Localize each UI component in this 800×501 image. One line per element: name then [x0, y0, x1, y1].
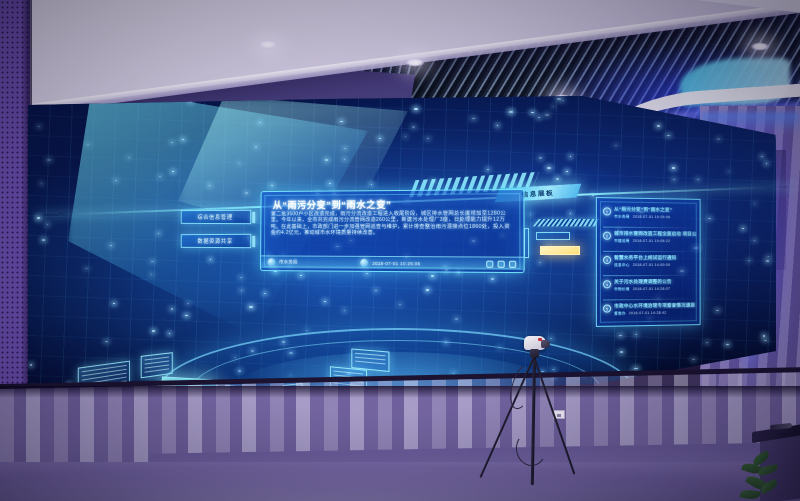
- star-particle: [329, 183, 331, 184]
- star-particle: [697, 179, 699, 180]
- star-particle: [667, 135, 670, 137]
- list-item-number: 5: [603, 304, 611, 312]
- star-particle: [427, 138, 429, 139]
- star-particle: [562, 100, 564, 101]
- downlight: [405, 58, 425, 67]
- list-item-meta: 市建设局2018-07-01 10:05:22: [614, 239, 697, 244]
- star-particle: [399, 304, 401, 305]
- star-particle: [556, 178, 559, 180]
- star-particle: [455, 318, 457, 319]
- star-particle: [487, 169, 489, 170]
- camera-tripod[interactable]: [508, 336, 588, 486]
- star-particle: [742, 228, 744, 229]
- star-particle: [151, 274, 152, 275]
- led-news-list-panel[interactable]: 1从“雨污分变”到“雨水之变”市水务局2018-07-01 10:25:062城…: [596, 197, 701, 327]
- list-item-text: 市政中心水环境治理专项督查情况通报督查办2018-07-01 14:28:42: [614, 302, 697, 323]
- list-item-title: 关于污水处理费调整的公告: [614, 279, 697, 285]
- star-particle: [566, 171, 567, 172]
- screen-nav-button-2[interactable]: 数据资源共享: [181, 234, 251, 248]
- list-item-text: 智慧水务平台上线试运行通知信息中心2018-07-01 14:00:00: [614, 255, 697, 275]
- list-item-meta: 市物价局2018-07-01 14:28:07: [614, 287, 697, 293]
- downlight: [258, 40, 278, 49]
- camera-record-indicator: [538, 338, 542, 341]
- list-item-meta: 督查办2018-07-01 14:28:42: [614, 310, 697, 316]
- star-particle: [185, 315, 188, 316]
- star-particle: [530, 214, 531, 215]
- star-particle: [105, 341, 108, 343]
- star-particle: [249, 306, 252, 308]
- star-particle: [692, 359, 695, 361]
- star-particle: [472, 118, 475, 119]
- star-particle: [169, 333, 170, 334]
- star-particle: [151, 261, 154, 263]
- star-particle: [553, 106, 554, 107]
- list-item-number: 1: [603, 207, 611, 215]
- star-particle: [300, 275, 302, 276]
- star-particle: [210, 259, 211, 260]
- star-particle: [240, 277, 241, 278]
- star-particle: [113, 303, 115, 304]
- star-particle: [245, 192, 248, 194]
- star-particle: [306, 330, 308, 331]
- star-particle: [414, 108, 418, 110]
- star-particle: [766, 163, 767, 164]
- star-particle: [657, 125, 660, 127]
- star-particle: [570, 213, 571, 214]
- floor-sheen: [0, 466, 800, 501]
- star-particle: [344, 310, 345, 311]
- news-list-item[interactable]: 4关于污水处理费调整的公告市物价局2018-07-01 14:28:07: [603, 279, 697, 300]
- star-particle: [761, 156, 763, 157]
- star-particle: [371, 184, 372, 185]
- potted-plant: [738, 452, 782, 501]
- star-particle: [182, 139, 184, 140]
- star-particle: [539, 157, 542, 159]
- news-list-item[interactable]: 1从“雨污分变”到“雨水之变”市水务局2018-07-01 10:25:06: [603, 206, 697, 227]
- star-particle: [85, 268, 88, 270]
- star-particle: [509, 111, 512, 113]
- star-particle: [570, 156, 572, 157]
- camera-cable-coil: [513, 430, 548, 469]
- status-chip-2-highlighted: [540, 246, 580, 255]
- star-particle: [767, 256, 769, 257]
- led-main-article-panel[interactable]: 从“雨污分变”到“雨水之变” 第二批3500户小区改造完成，雨污分流改造工程进入…: [260, 189, 525, 273]
- camera-lens-icon: [541, 340, 550, 348]
- star-particle: [557, 98, 560, 100]
- star-particle: [635, 334, 637, 335]
- star-particle: [531, 112, 534, 114]
- virtual-keyboard-graphic: [533, 219, 600, 226]
- news-list: 1从“雨污分变”到“雨水之变”市水务局2018-07-01 10:25:062城…: [597, 198, 700, 200]
- star-particle: [764, 340, 766, 341]
- star-particle: [30, 364, 33, 365]
- star-particle: [497, 125, 498, 126]
- room-photo-scene: 信息展板 综合信息管理 数据资源共享 从“雨污分变”到“雨水之变” 第二批350…: [0, 0, 800, 501]
- star-particle: [110, 245, 112, 246]
- list-item-title: 从“雨污分变”到“雨水之变”: [614, 206, 697, 213]
- clock-icon: [360, 259, 368, 267]
- screen-nav-label: 数据资源共享: [198, 237, 233, 245]
- star-particle: [375, 290, 377, 291]
- star-particle: [264, 293, 266, 294]
- news-list-item[interactable]: 5市政中心水环境治理专项督查情况通报督查办2018-07-01 14:28:42: [603, 302, 697, 323]
- star-particle: [325, 159, 328, 161]
- star-particle: [620, 351, 623, 353]
- source-icon: [268, 258, 276, 266]
- star-particle: [209, 185, 210, 186]
- star-particle: [426, 289, 430, 291]
- star-particle: [706, 342, 708, 343]
- article-body: 第二批3500户小区改造完成，雨污分流改造工程进入收尾阶段，城区排水管网总长度增…: [271, 211, 514, 237]
- star-particle: [538, 117, 540, 118]
- star-particle: [42, 239, 45, 241]
- star-particle: [366, 273, 368, 274]
- list-item-number: 4: [603, 280, 611, 288]
- star-particle: [672, 167, 675, 169]
- star-particle: [726, 344, 729, 345]
- list-item-text: 从“雨污分变”到“雨水之变”市水务局2018-07-01 10:25:06: [614, 206, 697, 227]
- screen-nav-button-1[interactable]: 综合信息管理: [181, 210, 251, 224]
- star-particle: [171, 142, 173, 143]
- list-item-number: 2: [603, 232, 611, 240]
- star-particle: [615, 145, 617, 146]
- star-particle: [187, 303, 189, 304]
- star-particle: [763, 335, 765, 336]
- status-chip-1: [536, 232, 570, 240]
- list-item-number: 3: [603, 256, 611, 264]
- star-particle: [239, 163, 240, 164]
- star-particle: [255, 146, 257, 147]
- list-item-title: 城市排水管网改造工程全面启动 项目公示: [614, 231, 697, 238]
- star-particle: [87, 144, 89, 145]
- list-item-text: 关于污水处理费调整的公告市物价局2018-07-01 14:28:07: [614, 279, 697, 300]
- star-particle: [344, 148, 346, 149]
- star-particle: [547, 167, 550, 169]
- star-particle: [545, 114, 549, 116]
- list-item-text: 城市排水管网改造工程全面启动 项目公示市建设局2018-07-01 10:05:…: [614, 231, 697, 251]
- article-meta-row: 市水务局 2018-07-01 10:25:06: [261, 255, 524, 270]
- star-particle: [405, 136, 406, 137]
- star-particle: [717, 138, 720, 140]
- star-particle: [259, 122, 261, 123]
- list-item-title: 市政中心水环境治理专项督查情况通报: [614, 302, 697, 309]
- floating-panel: [141, 352, 173, 378]
- article-headline: 从“雨污分变”到“雨水之变”: [273, 197, 392, 211]
- attach-icon[interactable]: [498, 260, 505, 267]
- star-particle: [271, 185, 272, 186]
- star-particle: [37, 217, 40, 219]
- camera-cable: [505, 360, 541, 412]
- downlight: [750, 42, 770, 51]
- star-particle: [340, 121, 344, 123]
- star-particle: [41, 183, 43, 184]
- star-particle: [241, 290, 242, 291]
- lower-wall-shadow: [0, 386, 800, 398]
- star-particle: [431, 275, 434, 277]
- screen-nav-label: 综合信息管理: [198, 213, 233, 221]
- star-particle: [158, 233, 160, 234]
- edit-icon[interactable]: [486, 260, 493, 267]
- floating-panel: [351, 348, 389, 372]
- star-particle: [159, 176, 161, 177]
- star-particle: [47, 224, 48, 225]
- list-item-meta: 信息中心2018-07-01 14:00:00: [614, 263, 697, 268]
- side-rail: [524, 228, 529, 258]
- star-particle: [152, 330, 155, 332]
- star-particle: [379, 138, 381, 139]
- star-particle: [728, 171, 729, 172]
- star-particle: [766, 260, 769, 262]
- star-particle: [716, 310, 719, 312]
- star-particle: [324, 301, 325, 302]
- star-particle: [754, 203, 755, 204]
- star-particle: [128, 157, 131, 159]
- star-particle: [673, 179, 675, 180]
- news-list-item[interactable]: 3智慧水务平台上线试运行通知信息中心2018-07-01 14:00:00: [603, 255, 697, 275]
- star-particle: [115, 180, 116, 181]
- list-item-meta: 市水务局2018-07-01 10:25:06: [614, 215, 697, 221]
- star-particle: [708, 218, 711, 220]
- news-list-item[interactable]: 2城市排水管网改造工程全面启动 项目公示市建设局2018-07-01 10:05…: [603, 231, 697, 252]
- list-item-title: 智慧水务平台上线试运行通知: [614, 255, 697, 261]
- star-particle: [172, 171, 173, 172]
- star-particle: [754, 240, 755, 241]
- led-title-text: 信息展板: [521, 187, 554, 199]
- star-particle: [491, 278, 494, 280]
- share-icon[interactable]: [509, 260, 516, 267]
- star-particle: [412, 126, 415, 128]
- star-particle: [38, 126, 39, 127]
- article-source-value: 市水务局: [279, 259, 298, 265]
- star-particle: [634, 368, 637, 370]
- star-particle: [619, 335, 622, 336]
- star-particle: [539, 262, 541, 263]
- star-particle: [748, 260, 750, 261]
- article-time-value: 2018-07-01 10:25:06: [372, 260, 420, 265]
- star-particle: [344, 159, 345, 160]
- star-particle: [47, 159, 50, 161]
- star-particle: [171, 308, 174, 310]
